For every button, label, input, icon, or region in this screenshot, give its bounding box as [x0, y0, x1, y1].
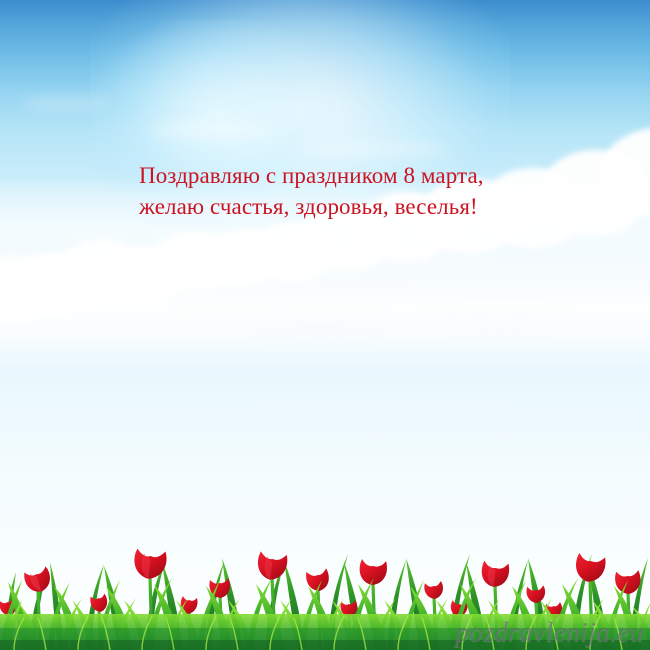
- greeting-card: Поздравляю с праздником 8 марта, желаю с…: [0, 0, 650, 650]
- site-watermark: pozdravlenija.eu: [455, 617, 644, 648]
- greeting-text: Поздравляю с праздником 8 марта, желаю с…: [139, 160, 519, 222]
